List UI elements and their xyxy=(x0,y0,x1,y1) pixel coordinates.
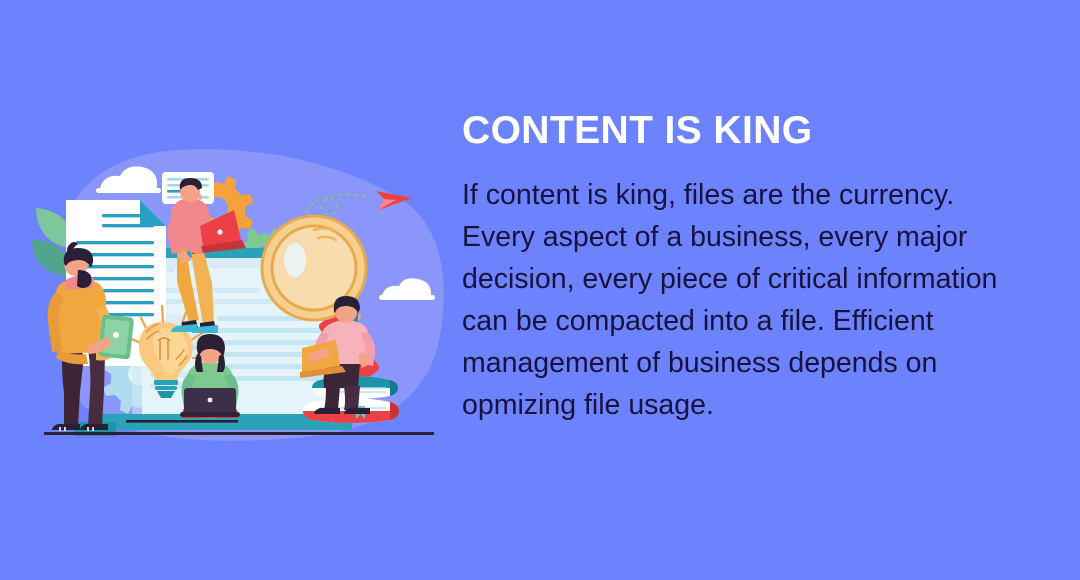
body-paragraph: If content is king, files are the curren… xyxy=(462,174,1018,426)
teamwork-illustration xyxy=(14,136,456,454)
page-title: CONTENT IS KING xyxy=(462,108,1028,154)
dark-laptop xyxy=(180,388,240,417)
content-is-king-banner: CONTENT IS KING If content is king, file… xyxy=(0,0,1080,580)
text-block: CONTENT IS KING If content is king, file… xyxy=(462,108,1028,426)
green-tablet xyxy=(98,314,134,359)
